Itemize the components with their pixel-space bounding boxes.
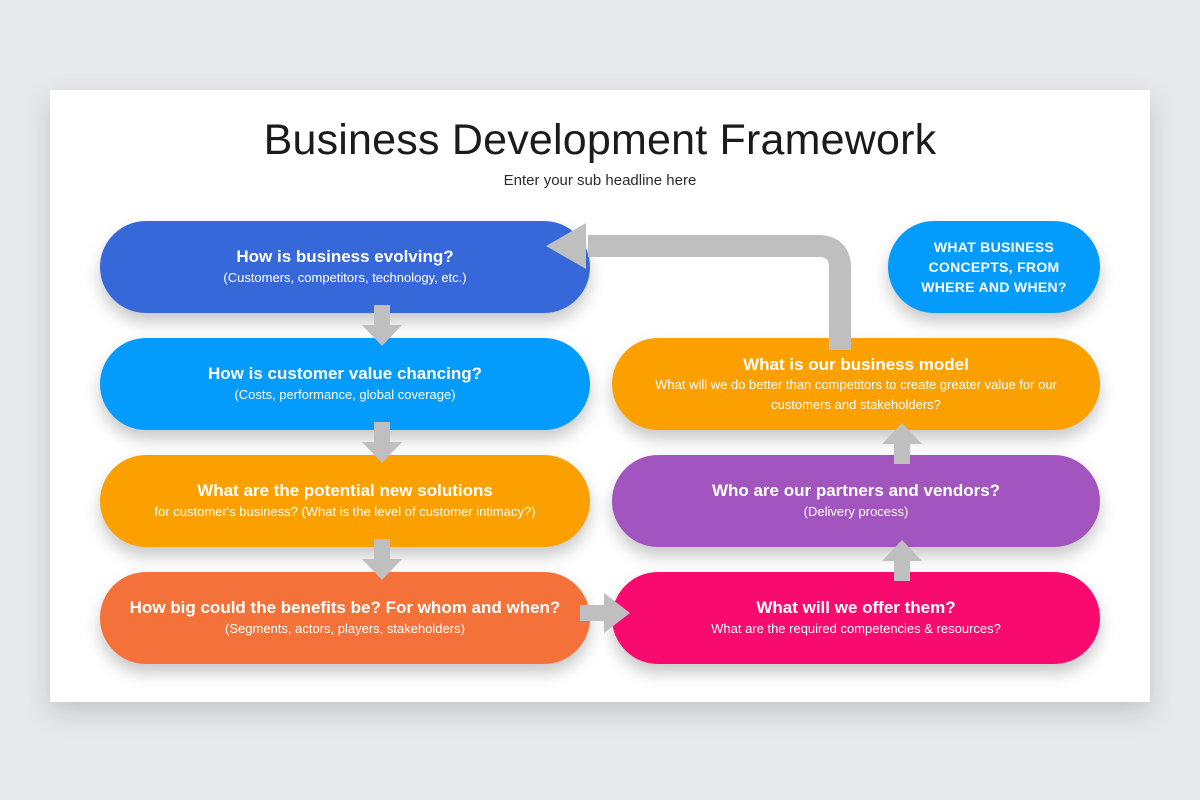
page-title: Business Development Framework bbox=[50, 116, 1150, 165]
down-arrow-icon bbox=[360, 305, 404, 347]
pill-heading: How is customer value chancing? bbox=[208, 363, 482, 385]
right-arrow-icon bbox=[580, 590, 632, 636]
pill-heading: How is business evolving? bbox=[236, 246, 453, 268]
up-arrow-icon bbox=[880, 422, 924, 464]
pill-heading: What are the potential new solutions bbox=[197, 480, 493, 502]
pill-how-is-customer-value-chancing[interactable]: How is customer value chancing? (Costs, … bbox=[100, 338, 590, 430]
down-arrow-icon bbox=[360, 539, 404, 581]
pill-subtext: for customer's business? (What is the le… bbox=[154, 502, 535, 522]
pill-how-is-business-evolving[interactable]: How is business evolving? (Customers, co… bbox=[100, 221, 590, 313]
pill-potential-new-solutions[interactable]: What are the potential new solutions for… bbox=[100, 455, 590, 547]
pill-heading: What is our business model bbox=[743, 354, 969, 376]
pill-how-big-could-benefits-be[interactable]: How big could the benefits be? For whom … bbox=[100, 572, 590, 664]
pill-subtext: (Customers, competitors, technology, etc… bbox=[223, 268, 466, 288]
pill-heading: What will we offer them? bbox=[756, 597, 955, 619]
pill-heading: How big could the benefits be? For whom … bbox=[130, 597, 561, 619]
pill-heading: WHAT BUSINESS CONCEPTS, FROM WHERE AND W… bbox=[914, 237, 1074, 298]
slide-card: Business Development Framework Enter you… bbox=[50, 90, 1150, 702]
return-elbow-arrow-icon bbox=[540, 220, 870, 350]
pill-heading: Who are our partners and vendors? bbox=[712, 480, 1000, 502]
pill-what-business-concepts[interactable]: WHAT BUSINESS CONCEPTS, FROM WHERE AND W… bbox=[888, 221, 1100, 313]
up-arrow-icon bbox=[880, 539, 924, 581]
pill-subtext: What are the required competencies & res… bbox=[711, 619, 1001, 639]
pill-subtext: What will we do better than competitors … bbox=[638, 375, 1074, 414]
page-subtitle: Enter your sub headline here bbox=[50, 172, 1150, 189]
slide-stage: Business Development Framework Enter you… bbox=[0, 0, 1200, 800]
pill-subtext: (Delivery process) bbox=[804, 502, 909, 522]
pill-who-are-our-partners[interactable]: Who are our partners and vendors? (Deliv… bbox=[612, 455, 1100, 547]
pill-what-will-we-offer-them[interactable]: What will we offer them? What are the re… bbox=[612, 572, 1100, 664]
pill-subtext: (Costs, performance, global coverage) bbox=[234, 385, 455, 405]
down-arrow-icon bbox=[360, 422, 404, 464]
pill-subtext: (Segments, actors, players, stakeholders… bbox=[225, 619, 465, 639]
pill-what-is-our-business-model[interactable]: What is our business model What will we … bbox=[612, 338, 1100, 430]
